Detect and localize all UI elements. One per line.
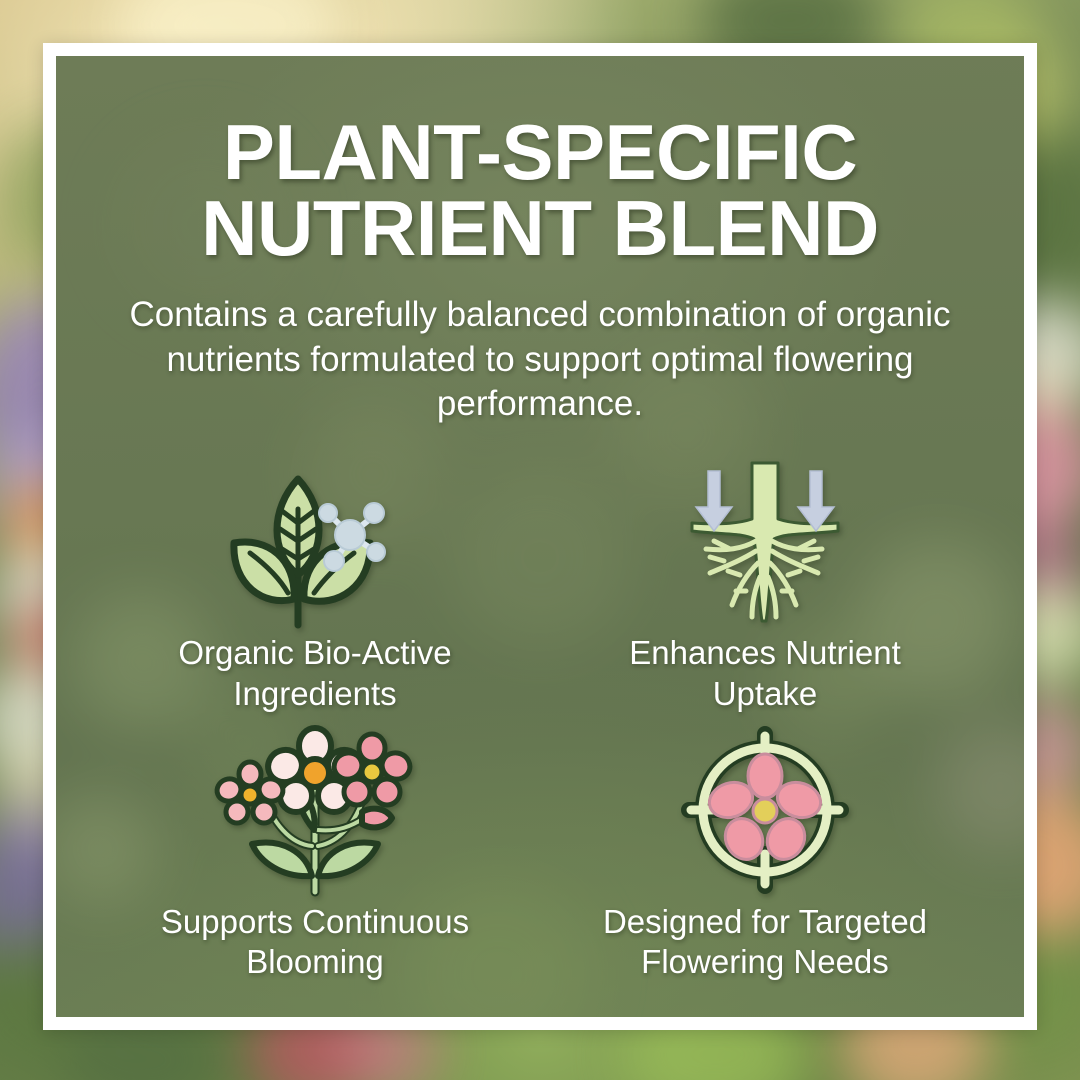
card-panel: PLANT-SPECIFIC NUTRIENT BLEND Contains a… <box>56 56 1024 1017</box>
feature-item-targeted-flowering: Designed for Targeted Flowering Needs <box>540 714 990 983</box>
feature-label-line-2: Uptake <box>713 675 818 712</box>
subtitle: Contains a carefully balanced combinatio… <box>56 293 1024 427</box>
feature-item-nutrient-uptake: Enhances Nutrient Uptake <box>540 451 990 714</box>
feature-label: Organic Bio-Active Ingredients <box>178 633 451 714</box>
feature-label-line-1: Designed for Targeted <box>603 903 927 940</box>
page-title-line-1: PLANT-SPECIFIC <box>56 114 1024 190</box>
feature-label-line-1: Supports Continuous <box>161 903 469 940</box>
feature-label: Supports Continuous Blooming <box>161 902 469 983</box>
card-frame: PLANT-SPECIFIC NUTRIENT BLEND Contains a… <box>43 43 1037 1030</box>
feature-label: Enhances Nutrient Uptake <box>629 633 901 714</box>
feature-grid: Organic Bio-Active Ingredients <box>56 451 1024 982</box>
feature-label-line-2: Ingredients <box>233 675 396 712</box>
page-title-line-2: NUTRIENT BLEND <box>56 190 1024 266</box>
feature-item-continuous-blooming: Supports Continuous Blooming <box>90 714 540 983</box>
crosshair-flower-target-icon <box>670 726 860 894</box>
root-uptake-arrows-icon <box>670 457 860 625</box>
flowering-plant-icon <box>220 726 410 894</box>
feature-label-line-1: Enhances Nutrient <box>629 634 901 671</box>
feature-label: Designed for Targeted Flowering Needs <box>603 902 927 983</box>
promo-graphic: PLANT-SPECIFIC NUTRIENT BLEND Contains a… <box>0 0 1080 1080</box>
feature-label-line-2: Flowering Needs <box>641 943 889 980</box>
feature-label-line-2: Blooming <box>246 943 384 980</box>
leaf-molecule-icon <box>220 457 410 625</box>
feature-item-organic-bio-active: Organic Bio-Active Ingredients <box>90 451 540 714</box>
feature-label-line-1: Organic Bio-Active <box>178 634 451 671</box>
page-title: PLANT-SPECIFIC NUTRIENT BLEND <box>56 56 1024 267</box>
